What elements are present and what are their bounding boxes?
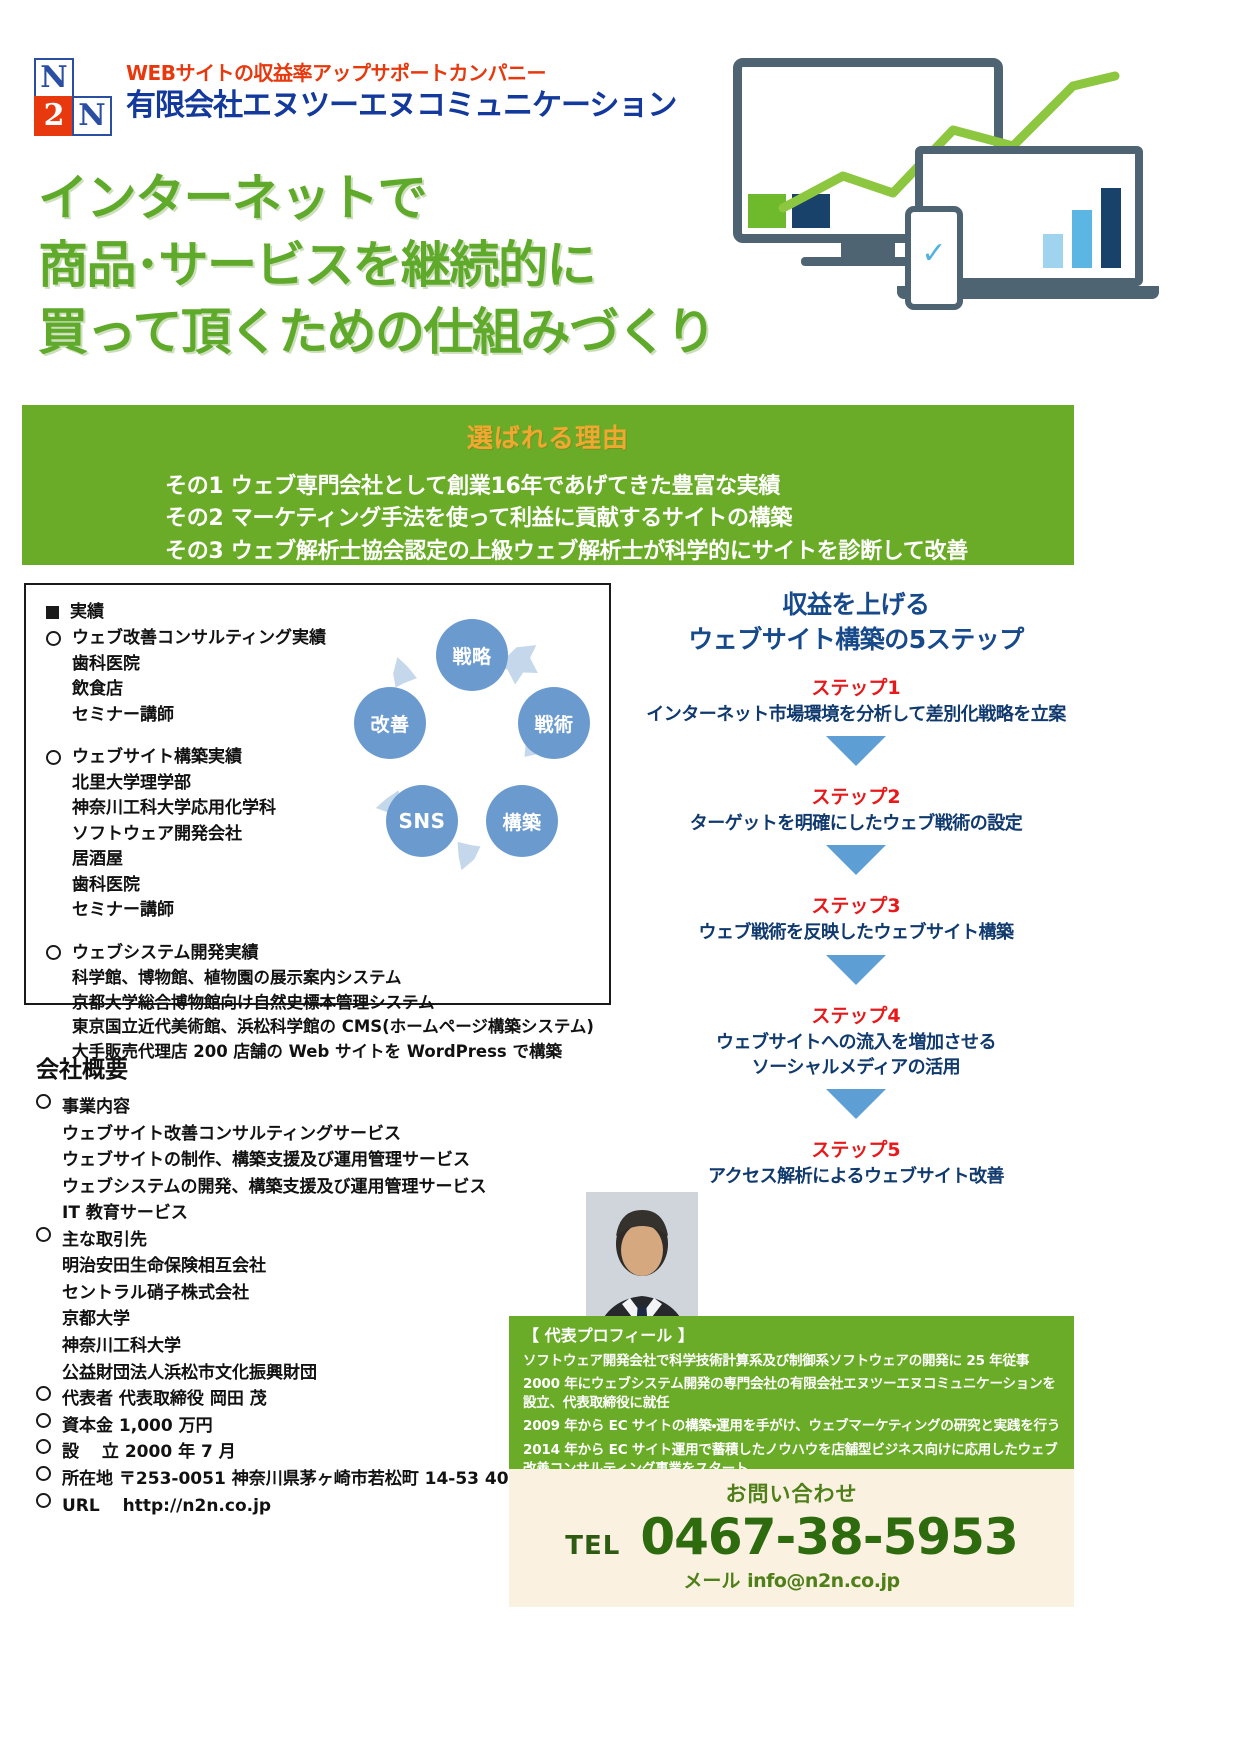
- achievement-item: ソフトウェア開発会社: [46, 822, 609, 848]
- logo-letter-n-bottom: N: [72, 96, 112, 136]
- spacer: [46, 924, 609, 940]
- laptop-bar-chart-icon: [1043, 188, 1121, 268]
- achievement-item: 大手販売代理店 200 店舗の Web サイトを WordPress で構築: [46, 1040, 609, 1065]
- achievements-box: 戦略 戦術 構築 SNS 改善 実績 ウェブ改善コンサルティング実績 歯科医院 …: [24, 583, 611, 1005]
- hero-headline: インターネットで 商品･サービスを継続的に 買って頂くための仕組みづくり: [38, 165, 715, 366]
- spacer: [46, 728, 609, 744]
- hero-line-2: 商品･サービスを継続的に: [38, 232, 715, 299]
- achievement-item: 神奈川工科大学応用化学科: [46, 796, 609, 822]
- step-text: ウェブ戦術を反映したウェブサイト構築: [640, 920, 1072, 945]
- overview-row-label: 主な取引先: [62, 1227, 147, 1254]
- profile-line: 2009 年から EC サイトの構築・運用を手がけ、ウェブマーケティングの研究と…: [523, 1417, 1062, 1436]
- email-row[interactable]: メール info@n2n.co.jp: [509, 1566, 1074, 1593]
- reason-item: その3 ウェブ解析士協会認定の上級ウェブ解析士が科学的にサイトを診断して改善: [165, 536, 1074, 568]
- achievement-item: 居酒屋: [46, 847, 609, 873]
- reasons-title: 選ばれる理由: [22, 405, 1074, 455]
- achievement-group-label: ウェブサイト構築実績: [46, 744, 609, 770]
- step-label: ステップ4: [640, 1001, 1072, 1028]
- overview-sub-item: IT 教育サービス: [36, 1200, 596, 1227]
- achievement-item: 歯科医院: [46, 652, 609, 678]
- overview-row-label: 資本金 1,000 万円: [62, 1413, 213, 1440]
- circle-bullet-icon: [46, 750, 61, 765]
- overview-row-clients: 主な取引先: [36, 1227, 596, 1254]
- step-text: アクセス解析によるウェブサイト改善: [640, 1164, 1072, 1189]
- group-label-text: ウェブシステム開発実績: [72, 940, 259, 966]
- achievement-item: 飲食店: [46, 677, 609, 703]
- circle-bullet-icon: [46, 945, 61, 960]
- circle-bullet-icon: [46, 631, 61, 646]
- step-block: ステップ4 ウェブサイトへの流入を増加させる ソーシャルメディアの活用: [640, 1001, 1072, 1080]
- step-block: ステップ2 ターゲットを明確にしたウェブ戦術の設定: [640, 782, 1072, 836]
- profile-line: 2000 年にウェブシステム開発の専門会社の有限会社エヌツーエヌコミュニケーショ…: [523, 1375, 1062, 1413]
- step-block: ステップ1 インターネット市場環境を分析して差別化戦略を立案: [640, 673, 1072, 727]
- achievements-heading-label: 実績: [70, 599, 104, 625]
- reason-item: その1 ウェブ専門会社として創業16年であげてきた豊富な実績: [165, 471, 1074, 503]
- achievement-item: 歯科医院: [46, 873, 609, 899]
- achievement-group-systems: ウェブシステム開発実績 科学館、博物館、植物園の展示案内システム 京都大学総合博…: [46, 940, 609, 1065]
- logo-digit-two: 2: [34, 96, 74, 136]
- header: N 2 N WEBサイトの収益率アップサポートカンパニー 有限会社エヌツーエヌコ…: [34, 58, 676, 136]
- square-bullet-icon: [46, 606, 59, 619]
- telephone-row[interactable]: TEL 0467-38-5953: [509, 1511, 1074, 1564]
- device-illustration: ✓: [723, 58, 1143, 328]
- down-arrow-icon: [826, 845, 886, 875]
- achievements-content: 実績 ウェブ改善コンサルティング実績 歯科医院 飲食店 セミナー講師 ウェブサイ…: [26, 585, 609, 1065]
- overview-sub-item: 明治安田生命保険相互会社: [36, 1253, 596, 1280]
- tel-number[interactable]: 0467-38-5953: [640, 1511, 1017, 1564]
- overview-sub-item: ウェブサイトの制作、構築支援及び運用管理サービス: [36, 1147, 596, 1174]
- achievement-item: 科学館、博物館、植物園の展示案内システム: [46, 966, 609, 991]
- email-label: メール: [683, 1570, 740, 1592]
- circle-bullet-icon: [36, 1094, 51, 1109]
- overview-row-label: 事業内容: [62, 1094, 130, 1121]
- overview-sub-item: ウェブシステムの開発、構築支援及び運用管理サービス: [36, 1174, 596, 1201]
- contact-title: お問い合わせ: [509, 1469, 1074, 1508]
- achievement-item: 京都大学総合博物館向け自然史標本管理システム: [46, 991, 609, 1016]
- hero-line-1: インターネットで: [38, 165, 715, 232]
- achievement-group-label: ウェブ改善コンサルティング実績: [46, 625, 609, 651]
- steps-title-line-2: ウェブサイト構築の5ステップ: [640, 623, 1072, 658]
- overview-sub-item: セントラル硝子株式会社: [36, 1280, 596, 1307]
- logo-letter-n-top: N: [34, 58, 74, 98]
- overview-row-label: 代表者 代表取締役 岡田 茂: [62, 1386, 267, 1413]
- circle-bullet-icon: [36, 1386, 51, 1401]
- step-text: ターゲットを明確にしたウェブ戦術の設定: [640, 811, 1072, 836]
- group-label-text: ウェブ改善コンサルティング実績: [72, 625, 326, 651]
- down-arrow-icon: [826, 736, 886, 766]
- checkmark-icon: ✓: [921, 239, 946, 269]
- representative-profile-box: 【 代表プロフィール 】 ソフトウェア開発会社で科学技術計算系及び制御系ソフトウ…: [509, 1316, 1074, 1469]
- steps-title-line-1: 収益を上げる: [640, 588, 1072, 623]
- profile-title: 【 代表プロフィール 】: [523, 1324, 1062, 1348]
- circle-bullet-icon: [36, 1439, 51, 1454]
- header-company-name: 有限会社エヌツーエヌコミュニケーション: [126, 89, 676, 122]
- profile-line: ソフトウェア開発会社で科学技術計算系及び制御系ソフトウェアの開発に 25 年従事: [523, 1352, 1062, 1371]
- achievements-heading: 実績: [46, 599, 609, 625]
- reason-item: その2 マーケティング手法を使って利益に貢献するサイトの構築: [165, 503, 1074, 535]
- circle-bullet-icon: [36, 1493, 51, 1508]
- overview-row-label: 所在地 〒253-0051 神奈川県茅ヶ崎市若松町 14-53 405: [62, 1466, 520, 1493]
- overview-row-business: 事業内容: [36, 1094, 596, 1121]
- step-text: ウェブサイトへの流入を増加させる ソーシャルメディアの活用: [640, 1030, 1072, 1080]
- circle-bullet-icon: [36, 1413, 51, 1428]
- step-text: インターネット市場環境を分析して差別化戦略を立案: [640, 702, 1072, 727]
- group-label-text: ウェブサイト構築実績: [72, 744, 242, 770]
- achievement-item: セミナー講師: [46, 703, 609, 729]
- reasons-banner: 選ばれる理由 その1 ウェブ専門会社として創業16年であげてきた豊富な実績 その…: [22, 405, 1074, 565]
- five-steps-panel: 収益を上げる ウェブサイト構築の5ステップ ステップ1 インターネット市場環境を…: [640, 588, 1072, 1189]
- step-label: ステップ1: [640, 673, 1072, 700]
- achievement-item: 東京国立近代美術館、浜松科学館の CMS(ホームページ構築システム): [46, 1015, 609, 1040]
- email-address[interactable]: info@n2n.co.jp: [747, 1570, 900, 1592]
- n2n-logo: N 2 N: [34, 58, 112, 136]
- overview-row-label: 設 立 2000 年 7 月: [62, 1439, 236, 1466]
- step-label: ステップ3: [640, 891, 1072, 918]
- circle-bullet-icon: [36, 1227, 51, 1242]
- overview-sub-item: ウェブサイト改善コンサルティングサービス: [36, 1121, 596, 1148]
- circle-bullet-icon: [36, 1466, 51, 1481]
- achievement-item: セミナー講師: [46, 898, 609, 924]
- tel-label: TEL: [565, 1531, 620, 1561]
- header-text: WEBサイトの収益率アップサポートカンパニー 有限会社エヌツーエヌコミュニケーシ…: [126, 58, 676, 122]
- contact-box: お問い合わせ TEL 0467-38-5953 メール info@n2n.co.…: [509, 1469, 1074, 1607]
- achievement-item: 北里大学理学部: [46, 771, 609, 797]
- smartphone-icon: ✓: [905, 206, 963, 310]
- header-tagline: WEBサイトの収益率アップサポートカンパニー: [126, 62, 676, 85]
- step-block: ステップ3 ウェブ戦術を反映したウェブサイト構築: [640, 891, 1072, 945]
- down-arrow-icon: [826, 955, 886, 985]
- step-label: ステップ5: [640, 1135, 1072, 1162]
- down-arrow-icon: [826, 1089, 886, 1119]
- overview-row-label[interactable]: URL http://n2n.co.jp: [62, 1493, 271, 1520]
- hero-line-3: 買って頂くための仕組みづくり: [38, 299, 715, 366]
- achievement-group-label: ウェブシステム開発実績: [46, 940, 609, 966]
- flyer-page: N 2 N WEBサイトの収益率アップサポートカンパニー 有限会社エヌツーエヌコ…: [0, 0, 1241, 1755]
- step-label: ステップ2: [640, 782, 1072, 809]
- step-block: ステップ5 アクセス解析によるウェブサイト改善: [640, 1135, 1072, 1189]
- reasons-list: その1 ウェブ専門会社として創業16年であげてきた豊富な実績 その2 マーケティ…: [22, 471, 1074, 568]
